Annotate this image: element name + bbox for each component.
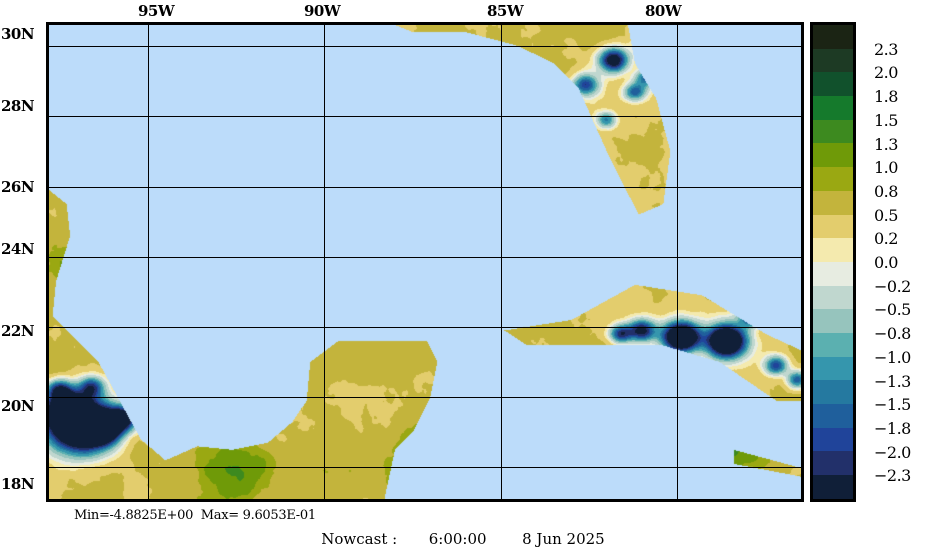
colorbar-tick-labels: 2.32.01.81.51.31.00.80.50.20.0−0.2−0.5−0… bbox=[862, 22, 926, 502]
colorbar bbox=[810, 22, 856, 502]
max-value: 9.6053E-01 bbox=[239, 508, 316, 523]
colorbar-band-9 bbox=[813, 238, 853, 262]
colorbar-band-1 bbox=[813, 49, 853, 73]
colorbar-tick-9: 0.0 bbox=[874, 253, 898, 272]
lat-tick-26N: 26N bbox=[1, 178, 34, 196]
colorbar-tick-14: −1.3 bbox=[874, 372, 911, 391]
colorbar-band-17 bbox=[813, 428, 853, 452]
lat-tick-18N: 18N bbox=[1, 475, 34, 493]
colorbar-tick-18: −2.3 bbox=[874, 466, 911, 485]
colorbar-band-3 bbox=[813, 96, 853, 120]
max-label: Max= bbox=[201, 508, 239, 523]
colorbar-band-7 bbox=[813, 191, 853, 215]
colorbar-tick-5: 1.0 bbox=[874, 158, 898, 177]
colorbar-tick-12: −0.8 bbox=[874, 324, 911, 343]
lon-tick-90W: 90W bbox=[304, 2, 340, 20]
gridline-lat-22 bbox=[49, 327, 801, 328]
colorbar-tick-4: 1.3 bbox=[874, 135, 898, 154]
lat-tick-30N: 30N bbox=[1, 25, 34, 43]
gridline-lat-30 bbox=[49, 46, 801, 47]
colorbar-tick-7: 0.5 bbox=[874, 206, 898, 225]
colorbar-band-19 bbox=[813, 475, 853, 499]
colorbar-band-0 bbox=[813, 25, 853, 49]
lon-tick-85W: 85W bbox=[487, 2, 523, 20]
colorbar-tick-8: 0.2 bbox=[874, 229, 898, 248]
colorbar-band-2 bbox=[813, 72, 853, 96]
colorbar-tick-1: 2.0 bbox=[874, 63, 898, 82]
colorbar-band-6 bbox=[813, 167, 853, 191]
colorbar-band-12 bbox=[813, 309, 853, 333]
colorbar-tick-15: −1.5 bbox=[874, 395, 911, 414]
gridline-lat-18 bbox=[49, 467, 801, 468]
gridline-lon--85 bbox=[501, 25, 502, 499]
colorbar-tick-17: −2.0 bbox=[874, 443, 911, 462]
gridline-lon--90 bbox=[324, 25, 325, 499]
gridline-lat-28 bbox=[49, 116, 801, 117]
colorbar-band-8 bbox=[813, 215, 853, 239]
forecast-time: 6:00:00 bbox=[429, 530, 487, 548]
lon-tick-80W: 80W bbox=[645, 2, 681, 20]
colorbar-band-14 bbox=[813, 357, 853, 381]
colorbar-tick-3: 1.5 bbox=[874, 111, 898, 130]
colorbar-band-16 bbox=[813, 404, 853, 428]
colorbar-tick-13: −1.0 bbox=[874, 348, 911, 367]
colorbar-tick-11: −0.5 bbox=[874, 300, 911, 319]
lat-tick-20N: 20N bbox=[1, 397, 34, 415]
gridline-lon--80 bbox=[677, 25, 678, 499]
gridline-lat-24 bbox=[49, 257, 801, 258]
min-max-readout: Min=-4.8825E+00 Max= 9.6053E-01 bbox=[46, 508, 804, 523]
forecast-date: 8 Jun 2025 bbox=[522, 530, 605, 548]
lat-tick-22N: 22N bbox=[1, 322, 34, 340]
colorbar-band-13 bbox=[813, 333, 853, 357]
colorbar-tick-0: 2.3 bbox=[874, 40, 898, 59]
colorbar-tick-6: 0.8 bbox=[874, 182, 898, 201]
map-plot-area[interactable] bbox=[46, 22, 804, 502]
min-label: Min= bbox=[74, 508, 110, 523]
colorbar-band-15 bbox=[813, 380, 853, 404]
colorbar-tick-16: −1.8 bbox=[874, 419, 911, 438]
colorbar-tick-2: 1.8 bbox=[874, 87, 898, 106]
lon-tick-95W: 95W bbox=[138, 2, 174, 20]
lat-tick-24N: 24N bbox=[1, 240, 34, 258]
colorbar-band-5 bbox=[813, 143, 853, 167]
colorbar-band-18 bbox=[813, 451, 853, 475]
footer-timestamp: Nowcast : 6:00:00 8 Jun 2025 bbox=[0, 530, 926, 548]
contour-field bbox=[49, 25, 801, 499]
colorbar-band-10 bbox=[813, 262, 853, 286]
gridline-lon--95 bbox=[148, 25, 149, 499]
colorbar-band-11 bbox=[813, 286, 853, 310]
lat-tick-28N: 28N bbox=[1, 97, 34, 115]
min-value: -4.8825E+00 bbox=[110, 508, 194, 523]
forecast-type-label: Nowcast : bbox=[321, 530, 397, 548]
colorbar-tick-10: −0.2 bbox=[874, 277, 911, 296]
colorbar-band-4 bbox=[813, 120, 853, 144]
gridline-lat-26 bbox=[49, 187, 801, 188]
gridline-lat-20 bbox=[49, 397, 801, 398]
